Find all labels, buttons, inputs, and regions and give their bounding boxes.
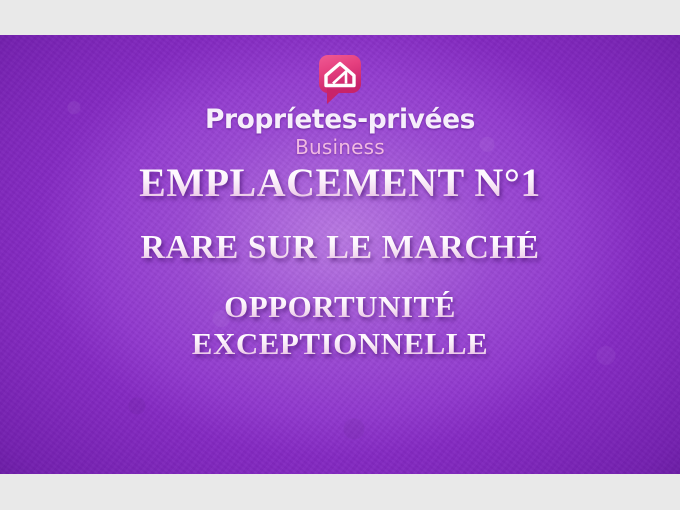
poster-content: Propríetes-privées Business EMPLACEMENT … bbox=[0, 35, 680, 474]
headline-line-3: OPPORTUNITÉ bbox=[0, 291, 680, 322]
headline-line-1: EMPLACEMENT N°1 bbox=[0, 163, 680, 203]
poster-background: Propríetes-privées Business EMPLACEMENT … bbox=[0, 35, 680, 474]
brand-lockup: Propríetes-privées Business bbox=[0, 54, 680, 157]
letterbox-band-bottom bbox=[0, 474, 680, 510]
headline-block: EMPLACEMENT N°1 RARE SUR LE MARCHÉ OPPOR… bbox=[0, 163, 680, 359]
headline-line-2: RARE SUR LE MARCHÉ bbox=[0, 231, 680, 265]
headline-line-4: EXCEPTIONNELLE bbox=[0, 328, 680, 359]
letterbox-band-top bbox=[0, 0, 680, 35]
house-speech-bubble-icon bbox=[317, 54, 363, 104]
promo-slide: Propríetes-privées Business EMPLACEMENT … bbox=[0, 0, 680, 510]
brand-name: Propríetes-privées bbox=[0, 107, 680, 134]
brand-subtitle: Business bbox=[0, 137, 680, 157]
